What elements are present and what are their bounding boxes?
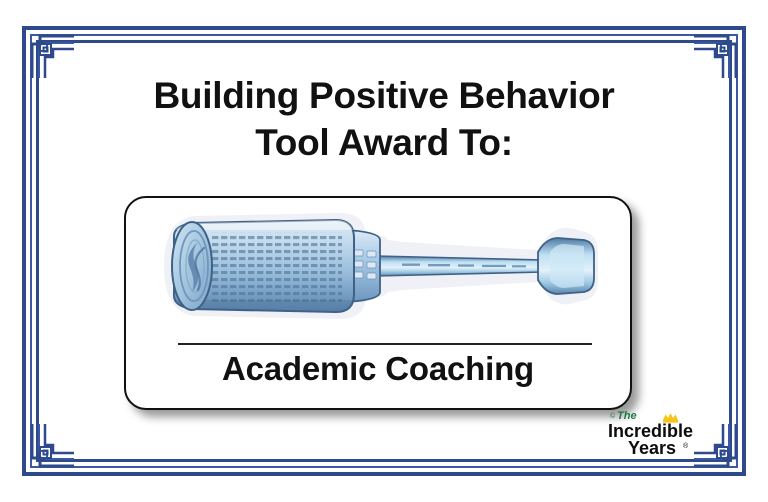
screwdriver-icon: [140, 208, 620, 326]
logo-copyright-mark: ©: [610, 412, 616, 420]
logo-word-years: Years: [628, 438, 676, 458]
incredible-years-logo: © The Incredible Years ®: [608, 404, 700, 460]
recipient-name-rule: [178, 343, 592, 345]
logo-registered-mark: ®: [683, 442, 689, 450]
recipient-name: Academic Coaching: [126, 350, 630, 388]
corner-ornament-bottom-left: [28, 424, 74, 470]
award-title: Building Positive Behavior Tool Award To…: [0, 72, 768, 167]
corner-ornament-bottom-right: [694, 424, 740, 470]
tool-award-card: Academic Coaching: [124, 196, 632, 410]
award-title-line-1: Building Positive Behavior: [0, 72, 768, 119]
award-title-line-2: Tool Award To:: [0, 119, 768, 166]
award-certificate-page: Building Positive Behavior Tool Award To…: [0, 0, 768, 502]
